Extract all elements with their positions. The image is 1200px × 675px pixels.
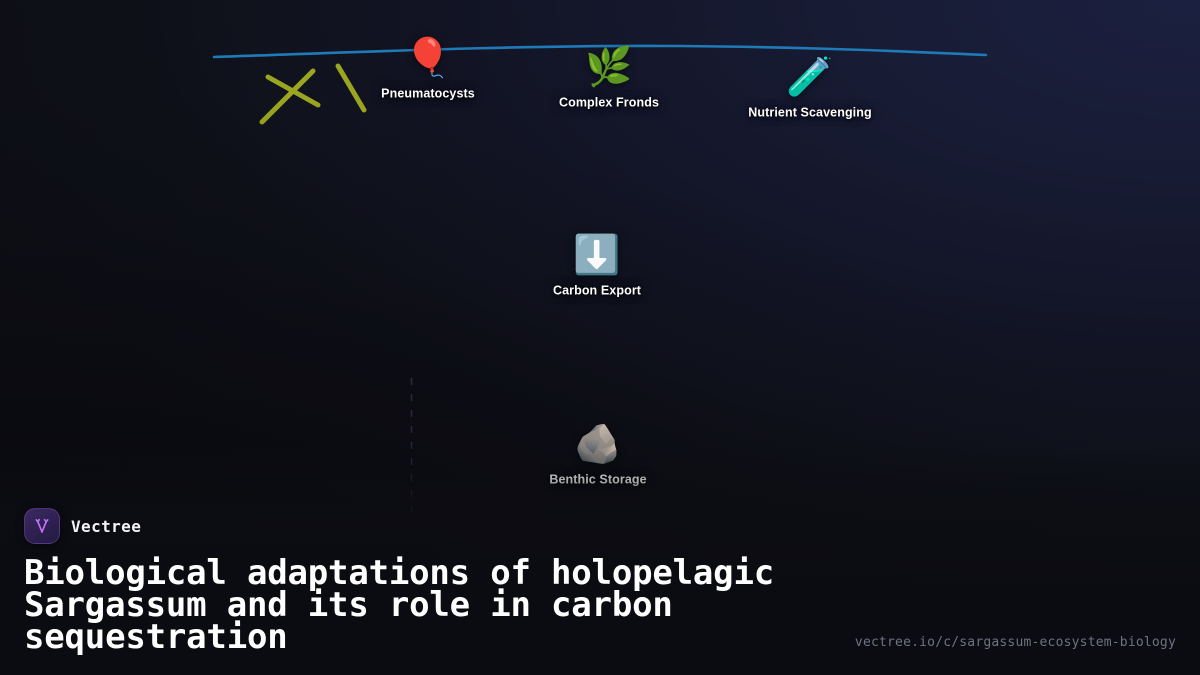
test-tube-icon: 🧪 [786,59,833,97]
node-benthic-storage[interactable]: 🪨 Benthic Storage [549,426,646,487]
herb-icon: 🌿 [585,49,632,87]
balloon-icon: 🎈 [404,40,451,78]
stipe-stroke-3 [338,66,364,110]
node-pneumatocysts[interactable]: 🎈 Pneumatocysts [381,40,475,101]
vectree-logo-icon [24,508,60,544]
page-title: Biological adaptations of holopelagicSar… [24,557,854,653]
source-url: vectree.io/c/sargassum-ecosystem-biology [855,635,1176,650]
visualization-canvas: 🎈 Pneumatocysts 🌿 Complex Fronds 🧪 Nutri… [0,0,1200,675]
node-label: Nutrient Scavenging [748,106,871,120]
down-arrow-icon: ⬇️ [573,237,620,275]
node-complex-fronds[interactable]: 🌿 Complex Fronds [559,49,659,110]
node-label: Pneumatocysts [381,87,475,101]
caption-block: Vectree Biological adaptations of holope… [24,508,1176,653]
node-nutrient-scavenging[interactable]: 🧪 Nutrient Scavenging [748,59,871,120]
node-label: Carbon Export [553,284,641,298]
node-label: Complex Fronds [559,96,659,110]
rock-icon: 🪨 [574,426,621,464]
node-label: Benthic Storage [549,473,646,487]
node-carbon-export[interactable]: ⬇️ Carbon Export [553,237,641,298]
brand-row[interactable]: Vectree [24,508,1176,544]
brand-name: Vectree [71,517,141,536]
